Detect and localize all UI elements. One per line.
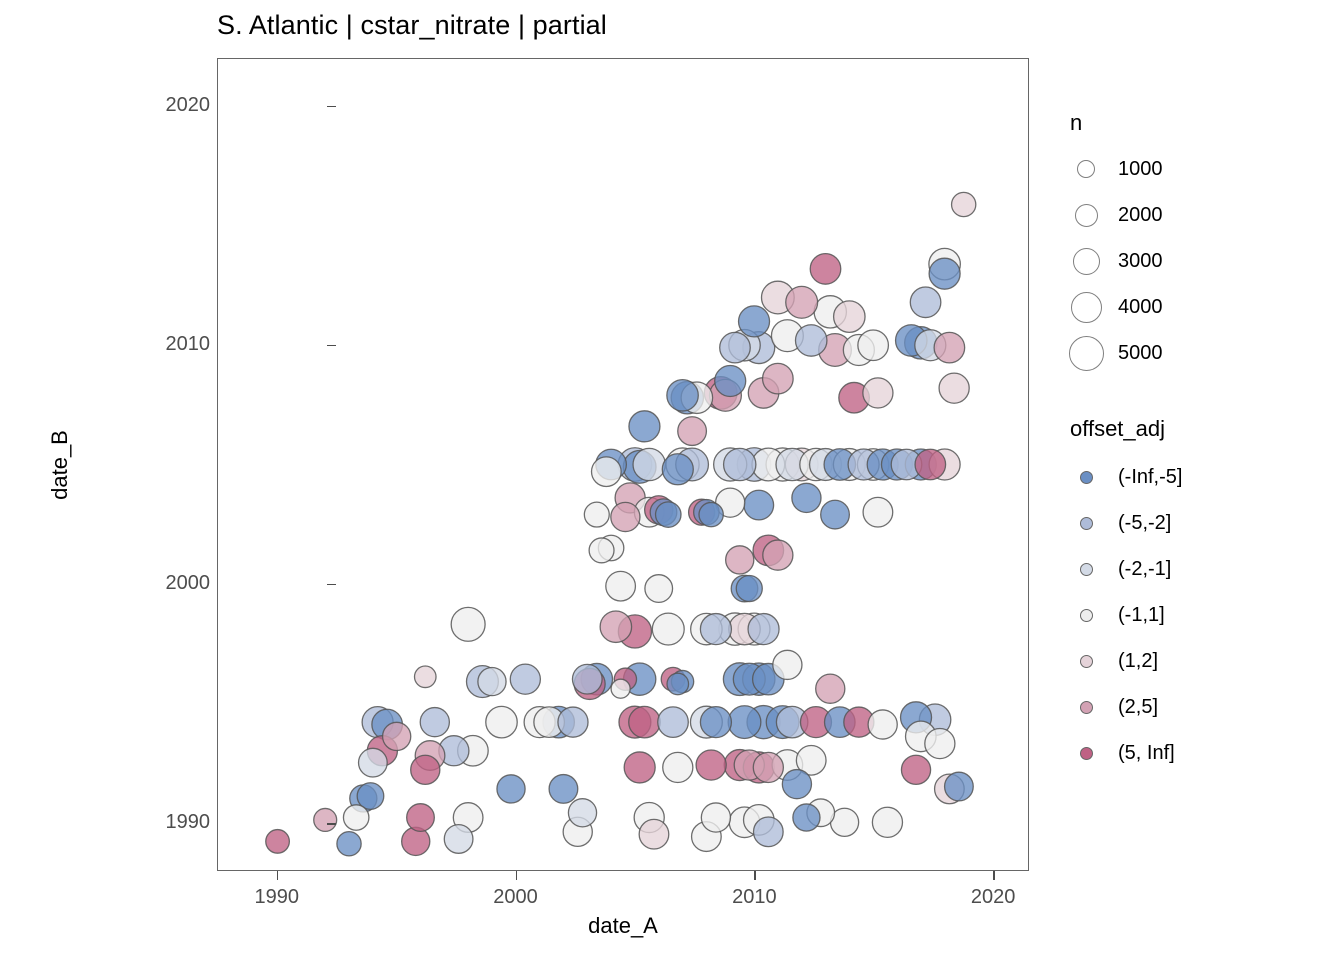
legend-color-key bbox=[1058, 517, 1114, 530]
legend-size-key bbox=[1058, 292, 1114, 323]
x-axis-title: date_A bbox=[217, 913, 1029, 939]
dot-icon bbox=[1080, 517, 1093, 530]
legend-color-key bbox=[1058, 655, 1114, 668]
legend-color-label: (2,5] bbox=[1114, 696, 1158, 718]
x-tick-label: 2020 bbox=[933, 885, 1053, 909]
legend-size-n: n 10002000300040005000 bbox=[1058, 110, 1338, 376]
legend-color-item[interactable]: (5, Inf] bbox=[1058, 730, 1338, 776]
legend-color-item[interactable]: (1,2] bbox=[1058, 638, 1338, 684]
legend-size-key bbox=[1058, 248, 1114, 275]
legend-size-key bbox=[1058, 336, 1114, 371]
x-tick-label: 2000 bbox=[456, 885, 576, 909]
legend-color-offset-adj: offset_adj (-Inf,-5](-5,-2](-2,-1](-1,1]… bbox=[1058, 416, 1338, 776]
dot-icon bbox=[1080, 701, 1093, 714]
y-axis-title: date_B bbox=[47, 365, 73, 565]
dot-icon bbox=[1080, 655, 1093, 668]
legend-size-label: 4000 bbox=[1114, 296, 1163, 318]
legend-color-item[interactable]: (-2,-1] bbox=[1058, 546, 1338, 592]
legend-color-item[interactable]: (-1,1] bbox=[1058, 592, 1338, 638]
legend-size-title: n bbox=[1070, 110, 1338, 136]
legend-color-key bbox=[1058, 563, 1114, 576]
x-tick-mark bbox=[277, 871, 278, 880]
legend-size-key bbox=[1058, 204, 1114, 227]
legend-color-label: (5, Inf] bbox=[1114, 742, 1175, 764]
circle-icon bbox=[1069, 336, 1104, 371]
circle-icon bbox=[1075, 204, 1098, 227]
dot-icon bbox=[1080, 471, 1093, 484]
legend-size-item[interactable]: 3000 bbox=[1058, 238, 1338, 284]
legend-color-label: (-2,-1] bbox=[1114, 558, 1171, 580]
legend-color-label: (-1,1] bbox=[1114, 604, 1165, 626]
legend-color-key bbox=[1058, 747, 1114, 760]
legend-size-item[interactable]: 4000 bbox=[1058, 284, 1338, 330]
circle-icon bbox=[1071, 292, 1102, 323]
circle-icon bbox=[1073, 248, 1100, 275]
legend-color-key bbox=[1058, 701, 1114, 714]
dot-icon bbox=[1080, 747, 1093, 760]
legend-size-item[interactable]: 5000 bbox=[1058, 330, 1338, 376]
legend-size-label: 5000 bbox=[1114, 342, 1163, 364]
legend-size-item[interactable]: 1000 bbox=[1058, 146, 1338, 192]
x-tick-label: 1990 bbox=[217, 885, 337, 909]
legend-size-label: 3000 bbox=[1114, 250, 1163, 272]
chart-root: S. Atlantic | cstar_nitrate | partial 19… bbox=[0, 0, 1344, 960]
legend-color-label: (-Inf,-5] bbox=[1114, 466, 1182, 488]
dot-icon bbox=[1080, 563, 1093, 576]
x-tick-mark bbox=[754, 871, 755, 880]
legend-color-key bbox=[1058, 609, 1114, 622]
legend-size-label: 2000 bbox=[1114, 204, 1163, 226]
x-tick-mark bbox=[993, 871, 994, 880]
legend-color-item[interactable]: (2,5] bbox=[1058, 684, 1338, 730]
legend-size-item[interactable]: 2000 bbox=[1058, 192, 1338, 238]
legend-size-label: 1000 bbox=[1114, 158, 1163, 180]
legend-color-item[interactable]: (-Inf,-5] bbox=[1058, 454, 1338, 500]
legend-color-key bbox=[1058, 471, 1114, 484]
x-tick-mark bbox=[516, 871, 517, 880]
legend-color-label: (-5,-2] bbox=[1114, 512, 1171, 534]
legend-size-key bbox=[1058, 160, 1114, 178]
legend-area: n 10002000300040005000 offset_adj (-Inf,… bbox=[1058, 110, 1338, 776]
circle-icon bbox=[1077, 160, 1095, 178]
legend-color-title: offset_adj bbox=[1070, 416, 1338, 442]
dot-icon bbox=[1080, 609, 1093, 622]
legend-color-label: (1,2] bbox=[1114, 650, 1158, 672]
x-tick-label: 2010 bbox=[694, 885, 814, 909]
legend-color-item[interactable]: (-5,-2] bbox=[1058, 500, 1338, 546]
